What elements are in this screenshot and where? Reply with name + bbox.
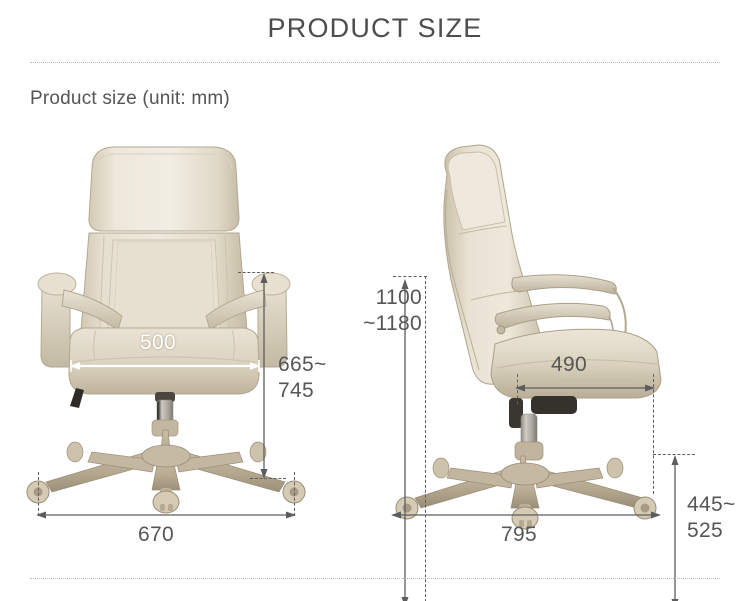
- seat-width-arrow: [69, 360, 261, 372]
- product-size-page: PRODUCT SIZE Product size (unit: mm): [0, 0, 750, 601]
- total-height-label: 1100 ~1180: [358, 285, 422, 336]
- base-depth-label: 795: [501, 522, 537, 548]
- office-chair-front-illustration: [0, 130, 375, 550]
- seat-height-label: 445~ 525: [687, 492, 736, 543]
- side-view-diagram: 1100 ~1180 490 445~ 525: [375, 130, 750, 550]
- header-divider: [30, 62, 720, 63]
- base-width-label: 670: [138, 522, 174, 548]
- page-title: PRODUCT SIZE: [0, 13, 750, 44]
- base-width-arrow: [34, 509, 298, 521]
- back-height-label: 665~ 745: [278, 352, 327, 403]
- section-subtitle: Product size (unit: mm): [30, 88, 230, 110]
- back-height-arrow: [258, 272, 270, 480]
- footer-divider: [30, 578, 720, 579]
- base-depth-arrow: [389, 509, 663, 521]
- front-view-diagram: 500 665~ 745: [0, 130, 375, 550]
- office-chair-side-illustration: [375, 130, 750, 550]
- total-height-guide-top: [393, 276, 427, 277]
- total-height-guide-vertical: [425, 276, 426, 601]
- seat-depth-label: 490: [551, 352, 587, 378]
- seat-depth-arrow: [513, 382, 657, 394]
- seat-width-label: 500: [140, 330, 176, 356]
